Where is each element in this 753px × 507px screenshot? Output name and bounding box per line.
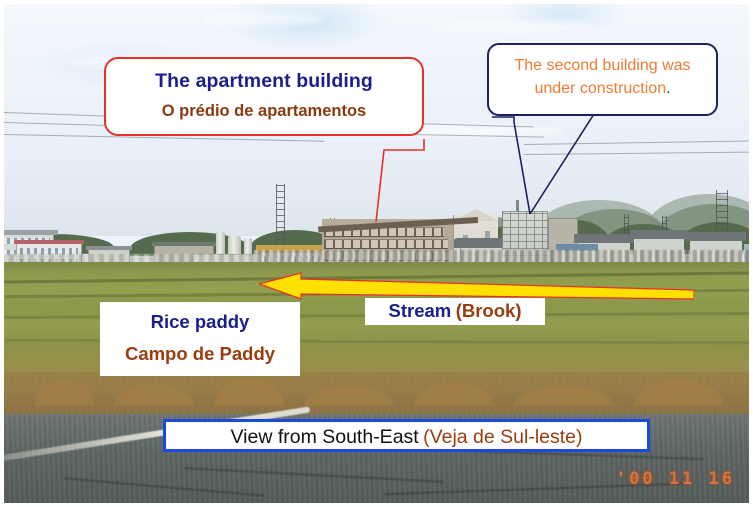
callout-construction-line-2: under construction. [489, 78, 716, 101]
callout-apartment-line-en: The apartment building [106, 70, 422, 93]
construction-callout-tail [484, 112, 614, 220]
house-roof [686, 232, 746, 241]
label-view-en: View from South-East [230, 426, 418, 448]
label-stream[interactable]: Stream (Brook) [365, 298, 545, 325]
label-view-pt: (Veja de Sul-leste) [423, 426, 582, 448]
window [485, 231, 490, 238]
callout-apartment-building[interactable]: The apartment building O prédio de apart… [104, 57, 424, 136]
label-rice-paddy-pt: Campo de Paddy [100, 343, 300, 365]
building-roof [14, 240, 84, 244]
callout-construction-line-2-text: under construction [534, 80, 666, 97]
balcony-row [324, 239, 448, 249]
callout-construction-period: . [666, 80, 670, 97]
camera-date-stamp: '00 11 16 [616, 469, 735, 489]
house-roof [574, 234, 634, 243]
apartment-callout-tail [324, 124, 444, 224]
screenshot-root: '00 11 16 The apartment building O prédi… [0, 0, 753, 507]
label-stream-pt: (Brook) [456, 300, 522, 321]
building-roof [152, 242, 216, 246]
house-roof [630, 230, 688, 239]
label-stream-en: Stream [389, 300, 452, 321]
callout-construction-line-1: The second building was [489, 55, 716, 78]
dry-grass-band [4, 372, 749, 414]
building-roof [4, 230, 58, 235]
label-view-direction[interactable]: View from South-East (Veja de Sul-leste) [163, 419, 650, 452]
label-rice-paddy[interactable]: Rice paddy Campo de Paddy [100, 302, 300, 376]
building-roof [86, 246, 132, 250]
callout-second-building[interactable]: The second building was under constructi… [487, 43, 718, 116]
callout-apartment-line-pt: O prédio de apartamentos [106, 102, 422, 121]
transmission-tower [276, 184, 285, 246]
label-rice-paddy-en: Rice paddy [100, 311, 300, 333]
